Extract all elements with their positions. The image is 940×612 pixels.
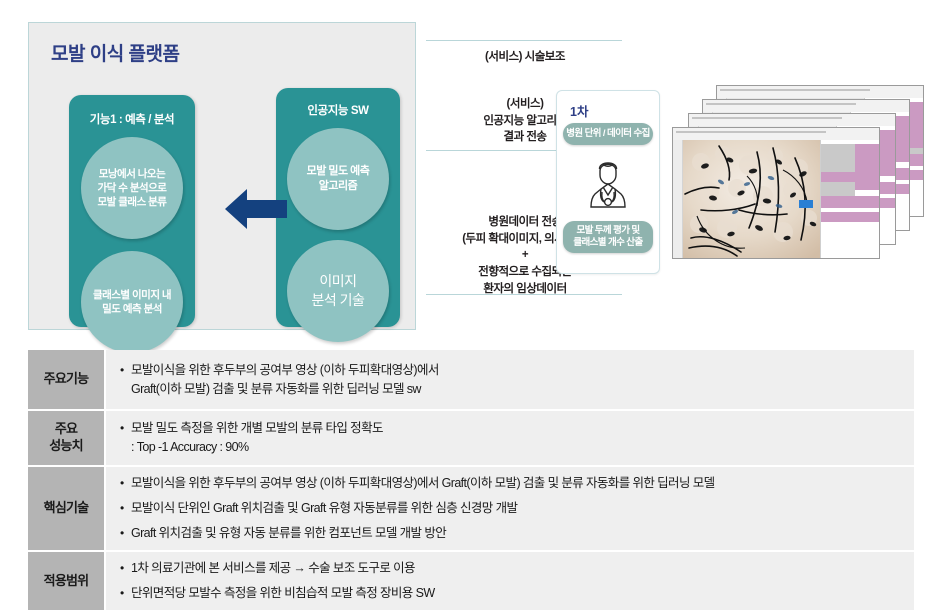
- platform-panel: 모발 이식 플랫폼 기능1 : 예측 / 분석 모낭에서 나오는 가닥 수 분석…: [28, 22, 416, 330]
- screenshot-stack: [672, 85, 924, 260]
- bubble-density-prediction-algorithm: 모발 밀도 예측 알고리즘: [287, 128, 389, 230]
- row-label-core-technology: 핵심기술: [28, 466, 105, 551]
- list-item: 단위면적당 모발수 측정을 위한 비침습적 모발 측정 장비용 SW: [120, 584, 904, 603]
- row-label-application-scope: 적용범위: [28, 551, 105, 611]
- left-arrow-icon: [225, 185, 287, 233]
- row-content-application-scope: 1차 의료기관에 본 서비스를 제공 → 수술 보조 도구로 이용 단위면적당 …: [105, 551, 914, 611]
- bubble-image-analysis-technology: 이미지 분석 기술: [287, 240, 389, 342]
- function-box-2-title: 인공지능 SW: [276, 102, 400, 118]
- list-item: 모발이식 단위인 Graft 위치검출 및 Graft 유형 자동분류를 위한 …: [120, 499, 904, 518]
- flow-label-service-assist: (서비스) 시술보조: [420, 49, 630, 66]
- stage-card-label: 1차: [570, 101, 588, 120]
- stacked-window-1: [672, 127, 880, 259]
- list-item: 모발이식을 위한 후두부의 공여부 영상 (이하 두피확대영상)에서 Graft…: [120, 474, 904, 493]
- flow-divider-bottom: [426, 294, 622, 295]
- window-side-panel: [820, 140, 879, 259]
- list-item: 모발이식을 위한 후두부의 공여부 영상 (이하 두피확대영상)에서 Graft…: [120, 361, 904, 399]
- bubble-density-prediction-analysis: 클래스별 이미지 내 밀도 예측 분석: [81, 251, 183, 353]
- stage-card-phase-1: 1차 병원 단위 / 데이터 수집 모발 두께 평가 및 클래스별 개수 산출: [556, 90, 660, 274]
- pill-hospital-data-collection: 병원 단위 / 데이터 수집: [563, 123, 653, 145]
- table-row: 적용범위 1차 의료기관에 본 서비스를 제공 → 수술 보조 도구로 이용 단…: [28, 551, 914, 611]
- scalp-photo: [683, 140, 823, 259]
- table-row: 주요 성능치 모발 밀도 측정을 위한 개별 모발의 분류 타입 정확도 : T…: [28, 410, 914, 466]
- list-item: Graft 위치검출 및 유형 자동 분류를 위한 컴포넌트 모델 개발 방안: [120, 524, 904, 543]
- row-label-main-performance: 주요 성능치: [28, 410, 105, 466]
- flow-divider-top: [426, 40, 622, 41]
- function-box-ai-sw: 인공지능 SW 모발 밀도 예측 알고리즘 이미지 분석 기술: [276, 88, 400, 327]
- diagram-area: 모발 이식 플랫폼 기능1 : 예측 / 분석 모낭에서 나오는 가닥 수 분석…: [0, 0, 940, 344]
- function-box-1-title: 기능1 : 예측 / 분석: [69, 111, 195, 127]
- pill-thickness-evaluation: 모발 두께 평가 및 클래스별 개수 산출: [563, 221, 653, 253]
- row-content-main-performance: 모발 밀도 측정을 위한 개별 모발의 분류 타입 정확도 : Top -1 A…: [105, 410, 914, 466]
- list-item: 1차 의료기관에 본 서비스를 제공 → 수술 보조 도구로 이용: [120, 559, 904, 578]
- doctor-icon: [585, 153, 631, 211]
- row-content-core-technology: 모발이식을 위한 후두부의 공여부 영상 (이하 두피확대영상)에서 Graft…: [105, 466, 914, 551]
- bubble-hair-class-classification: 모낭에서 나오는 가닥 수 분석으로 모발 클래스 분류: [81, 137, 183, 239]
- window-sidebar: [673, 140, 683, 258]
- row-content-main-function: 모발이식을 위한 후두부의 공여부 영상 (이하 두피확대영상)에서 Graft…: [105, 350, 914, 410]
- table-row: 주요기능 모발이식을 위한 후두부의 공여부 영상 (이하 두피확대영상)에서 …: [28, 350, 914, 410]
- page-title: 모발 이식 플랫폼: [51, 39, 179, 66]
- list-item: 모발 밀도 측정을 위한 개별 모발의 분류 타입 정확도 : Top -1 A…: [120, 419, 904, 457]
- spec-table: 주요기능 모발이식을 위한 후두부의 공여부 영상 (이하 두피확대영상)에서 …: [28, 350, 914, 612]
- table-row: 핵심기술 모발이식을 위한 후두부의 공여부 영상 (이하 두피확대영상)에서 …: [28, 466, 914, 551]
- row-label-main-function: 주요기능: [28, 350, 105, 410]
- function-box-prediction-analysis: 기능1 : 예측 / 분석 모낭에서 나오는 가닥 수 분석으로 모발 클래스 …: [69, 95, 195, 327]
